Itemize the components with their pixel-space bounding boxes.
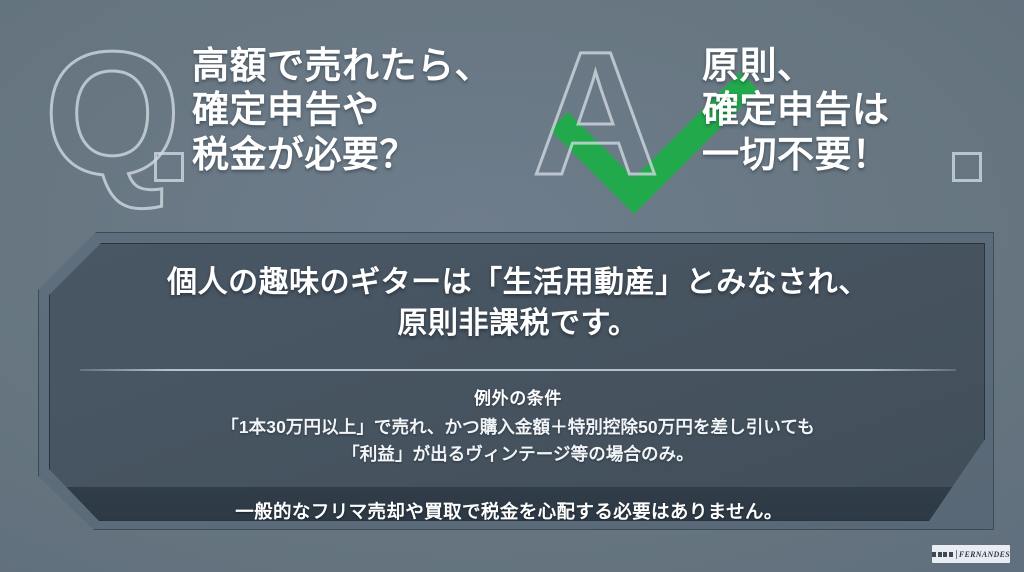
exception-body-text: 「1本30万円以上」で売れ、かつ購入金額＋特別控除50万円を差し引いても 「利益… <box>50 414 985 468</box>
question-text: 高額で売れたら、 確定申告や 税金が必要？ <box>192 44 492 177</box>
info-card-frame: 個人の趣味のギターは「生活用動産」とみなされ、 原則非課税です。 例外の条件 「… <box>38 232 994 530</box>
question-marker-dot-icon <box>154 152 184 182</box>
question-block: Q 高額で売れたら、 確定申告や 税金が必要？ <box>0 0 512 216</box>
answer-text: 原則、 確定申告は 一切不要！ <box>702 44 890 177</box>
exception-label: 例外の条件 <box>50 384 985 409</box>
answer-marker-letter: A <box>532 26 657 202</box>
brand-logo: FERNANDES <box>932 545 1010 563</box>
slide-canvas: Q 高額で売れたら、 確定申告や 税金が必要？ A 原則、 確定申告は 一切不要… <box>0 0 1024 572</box>
card-footer-text: 一般的なフリマ売却や買取で税金を心配する必要はありません。 <box>62 498 956 521</box>
qa-header-row: Q 高額で売れたら、 確定申告や 税金が必要？ A 原則、 確定申告は 一切不要… <box>0 0 1024 216</box>
card-divider <box>80 369 956 371</box>
info-card: 個人の趣味のギターは「生活用動産」とみなされ、 原則非課税です。 例外の条件 「… <box>49 243 985 521</box>
card-title: 個人の趣味のギターは「生活用動産」とみなされ、 原則非課税です。 <box>50 262 985 345</box>
card-footer-bar: 一般的なフリマ売却や買取で税金を心配する必要はありません。 <box>62 487 956 521</box>
brand-wordmark: FERNANDES <box>959 550 1010 559</box>
brand-squares-icon <box>932 552 953 557</box>
answer-marker-dot-icon <box>952 152 982 182</box>
answer-block: A 原則、 確定申告は 一切不要！ <box>512 0 1024 216</box>
info-card-body: 個人の趣味のギターは「生活用動産」とみなされ、 原則非課税です。 例外の条件 「… <box>50 244 985 521</box>
